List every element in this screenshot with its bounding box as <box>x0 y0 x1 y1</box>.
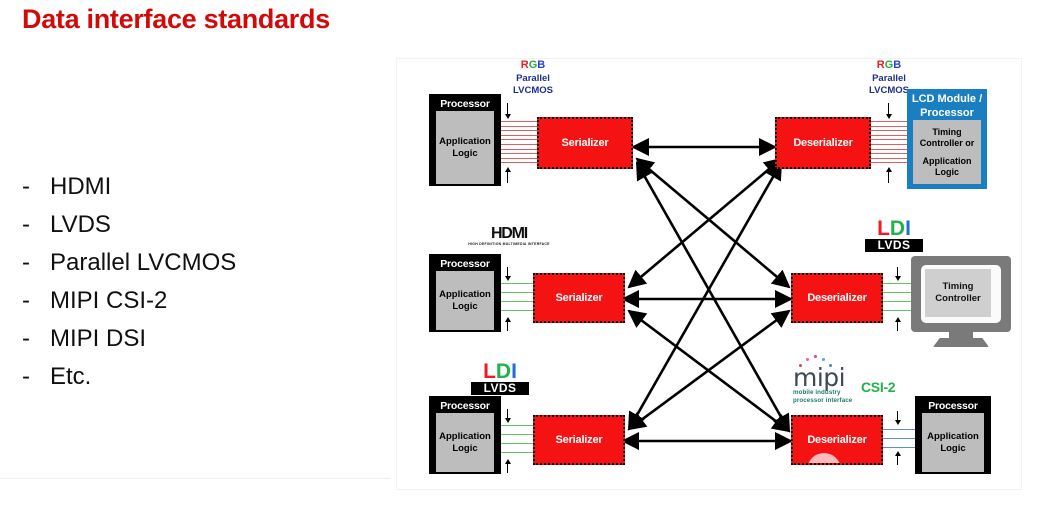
processor-block-row3-right: Processor Application Logic <box>915 396 991 474</box>
bus-parallel-lvcmos-row1 <box>501 121 539 163</box>
lcd-module-inner: Timing Controller or Application Logic <box>913 120 981 184</box>
list-item: - MIPI CSI-2 <box>22 282 236 320</box>
serializer-label: Serializer <box>556 292 603 304</box>
bullet-dash: - <box>22 320 50 358</box>
bullet-dash: - <box>22 282 50 320</box>
deserializer-label: Deserializer <box>807 434 866 446</box>
processor-title: Processor <box>440 398 490 413</box>
application-logic-label: Application Logic <box>436 111 494 184</box>
bus-arrow-up-row2-right <box>897 321 898 331</box>
bus-arrow-down-row2 <box>507 267 508 277</box>
list-item-label: Etc. <box>50 358 91 396</box>
bus-arrow-down-row2-right <box>897 267 898 277</box>
bus-arrow-down-row3-right <box>897 411 898 421</box>
bus-lvds-row3 <box>501 425 533 456</box>
deserializer-block-row1: Deserializer <box>775 117 871 169</box>
bus-arrow-up-row3-right <box>897 455 898 465</box>
csi2-label: CSI-2 <box>861 379 895 395</box>
list-item: - HDMI <box>22 168 236 206</box>
bus-arrow-down-row1 <box>507 103 508 115</box>
serializer-block-row3: Serializer <box>533 415 625 465</box>
page-title: Data interface standards <box>22 4 330 35</box>
hdmi-wordmark: HDMI <box>459 226 559 242</box>
lvcmos-label: LVCMOS <box>869 85 909 96</box>
parallel-label: Parallel <box>516 73 550 84</box>
interface-diagram: RGB Parallel LVCMOS Processor Applicatio… <box>396 58 1022 490</box>
mipi-arc-decoration <box>807 453 841 465</box>
serializer-block-row2: Serializer <box>533 273 625 323</box>
bus-arrow-down-row3 <box>507 409 508 419</box>
timing-controller-panel: Timing Controller <box>925 269 991 317</box>
ldi-wordmark: LDI <box>471 362 529 382</box>
application-logic-label: Application Logic <box>922 413 984 472</box>
bus-csi2-row3-right <box>883 429 915 448</box>
lcd-inner-line1: Timing Controller or <box>913 127 981 149</box>
bus-arrow-up-row1-right <box>888 171 889 183</box>
bullet-dash: - <box>22 244 50 282</box>
bullet-dash: - <box>22 358 50 396</box>
signal-label-top-left: RGB Parallel LVCMOS <box>493 59 573 98</box>
monitor-base <box>933 338 989 347</box>
list-item: - Parallel LVCMOS <box>22 244 236 282</box>
processor-title: Processor <box>440 96 490 111</box>
hdmi-tagline: HIGH DEFINITION MULTIMEDIA INTERFACE <box>459 242 559 247</box>
monitor-neck <box>949 332 973 338</box>
ldi-lvds-label: LVDS <box>471 382 529 395</box>
standards-list: - HDMI - LVDS - Parallel LVCMOS - MIPI C… <box>22 168 236 396</box>
bullet-dash: - <box>22 206 50 244</box>
bus-parallel-lvcmos-row1-right <box>871 121 907 163</box>
deserializer-label: Deserializer <box>807 292 866 304</box>
bus-arrow-up-row1 <box>507 171 508 183</box>
list-item-label: Parallel LVCMOS <box>50 244 236 282</box>
bus-arrow-up-row3 <box>507 463 508 473</box>
application-logic-label: Application Logic <box>436 413 494 472</box>
rgb-label: RGB <box>521 59 545 71</box>
processor-block-row1: Processor Application Logic <box>429 94 501 186</box>
mipi-logo: mipi mobile industry processor interface <box>793 366 852 404</box>
ldi-lvds-logo-row2: LDI LVDS <box>865 219 923 252</box>
application-logic-label: Application Logic <box>436 271 494 330</box>
serializer-label: Serializer <box>562 137 609 149</box>
serializer-block-row1: Serializer <box>537 117 633 169</box>
list-item: - MIPI DSI <box>22 320 236 358</box>
list-item-label: MIPI DSI <box>50 320 146 358</box>
processor-title: Processor <box>928 398 978 413</box>
list-item-label: HDMI <box>50 168 111 206</box>
lvcmos-label: LVCMOS <box>513 85 553 96</box>
mipi-tagline-line2: processor interface <box>793 397 852 405</box>
hdmi-logo: HDMI HIGH DEFINITION MULTIMEDIA INTERFAC… <box>459 226 559 247</box>
list-item: - Etc. <box>22 358 236 396</box>
bullet-dash: - <box>22 168 50 206</box>
mipi-wordmark: mipi <box>793 366 852 389</box>
deserializer-block-row2: Deserializer <box>791 273 883 323</box>
rgb-label: RGB <box>877 59 901 71</box>
lcd-module-title: LCD Module / Processor <box>907 89 987 120</box>
list-item: - LVDS <box>22 206 236 244</box>
bus-arrow-down-row1-right <box>888 103 889 115</box>
ldi-lvds-logo-row3: LDI LVDS <box>471 362 529 395</box>
lcd-module-block: LCD Module / Processor Timing Controller… <box>907 89 987 189</box>
footer-divider <box>0 478 390 479</box>
bus-lvds-row2 <box>501 283 533 314</box>
ldi-wordmark: LDI <box>865 219 923 239</box>
serializer-label: Serializer <box>556 434 603 446</box>
processor-block-row3: Processor Application Logic <box>429 396 501 474</box>
bus-arrow-up-row2 <box>507 321 508 331</box>
parallel-label: Parallel <box>872 73 906 84</box>
list-item-label: LVDS <box>50 206 111 244</box>
list-item-label: MIPI CSI-2 <box>50 282 167 320</box>
processor-block-row2: Processor Application Logic <box>429 254 501 332</box>
deserializer-label: Deserializer <box>793 137 852 149</box>
ldi-lvds-label: LVDS <box>865 239 923 252</box>
deserializer-block-row3: Deserializer <box>791 415 883 465</box>
lcd-inner-line2: Application Logic <box>913 156 981 178</box>
processor-title: Processor <box>440 256 490 271</box>
